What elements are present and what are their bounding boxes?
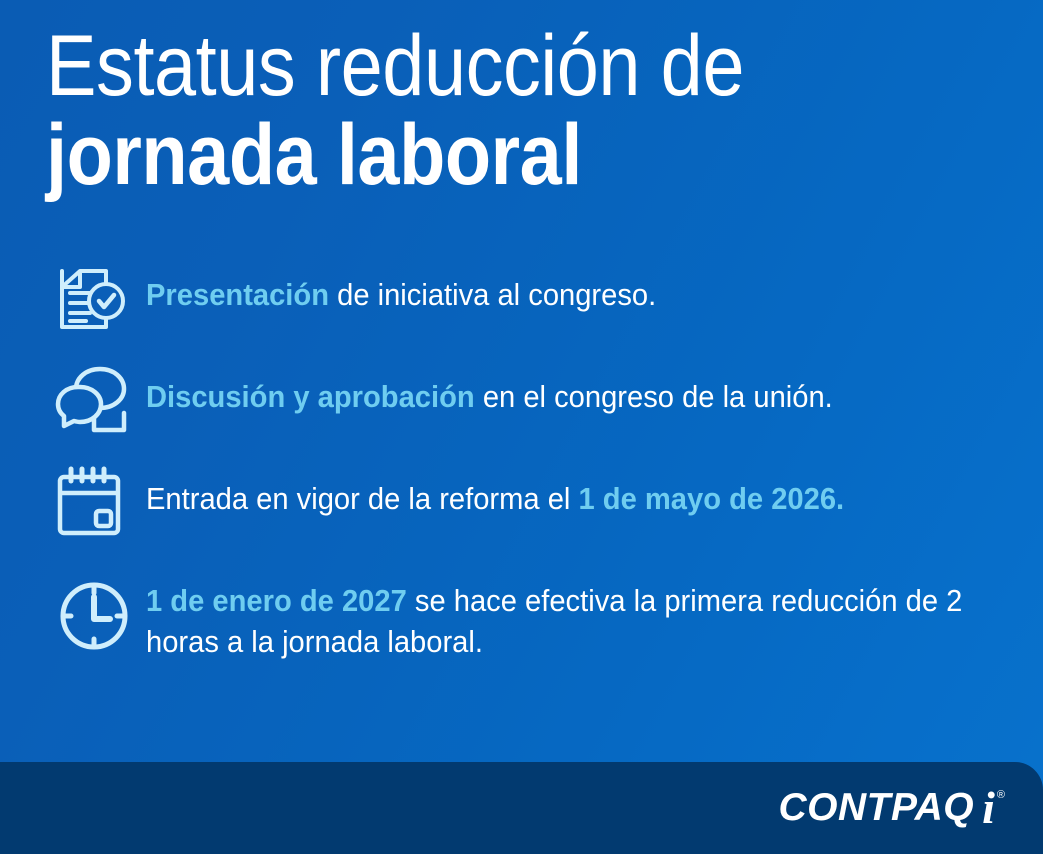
list-item: Entrada en vigor de la reforma el 1 de m… — [46, 462, 1026, 542]
list-item: Discusión y aprobación en el congreso de… — [46, 360, 1026, 440]
contpaqi-logo: CONTPAQ i ® — [779, 785, 1006, 831]
calendar-icon — [46, 462, 146, 542]
list-item-text: Presentación de iniciativa al congreso. — [146, 258, 973, 315]
page-title-line-2: jornada laboral — [46, 113, 891, 198]
logo-registered-mark: ® — [997, 789, 1005, 801]
list-item-rest: en el congreso de la unión. — [475, 379, 833, 414]
footer-bar: CONTPAQ i ® — [0, 762, 1043, 854]
logo-wordmark: CONTPAQ — [779, 786, 975, 830]
clock-icon — [46, 576, 146, 656]
list-item-lead: Entrada en vigor de la reforma el — [146, 481, 578, 516]
list-item-highlight: Presentación — [146, 277, 329, 312]
list-item-highlight: Discusión y aprobación — [146, 379, 475, 414]
timeline-list: Presentación de iniciativa al congreso. … — [46, 258, 1026, 662]
list-item-text: Entrada en vigor de la reforma el 1 de m… — [146, 462, 973, 519]
list-item-highlight: 1 de mayo de 2026. — [578, 481, 844, 516]
list-item: Presentación de iniciativa al congreso. — [46, 258, 1026, 338]
list-item-rest: de iniciativa al congreso. — [329, 277, 656, 312]
list-item-text: Discusión y aprobación en el congreso de… — [146, 360, 973, 417]
list-item-highlight: 1 de enero de 2027 — [146, 583, 407, 618]
list-item: 1 de enero de 2027 se hace efectiva la p… — [46, 576, 1026, 662]
document-check-icon — [46, 258, 146, 338]
page-title-line-1: Estatus reducción de — [46, 24, 891, 109]
page-title: Estatus reducción de jornada laboral — [46, 24, 1006, 198]
logo-i-glyph: i — [982, 785, 995, 831]
speech-bubbles-icon — [46, 360, 146, 440]
list-item-text: 1 de enero de 2027 se hace efectiva la p… — [146, 576, 973, 662]
infographic-canvas: Estatus reducción de jornada laboral Pre — [0, 0, 1043, 854]
